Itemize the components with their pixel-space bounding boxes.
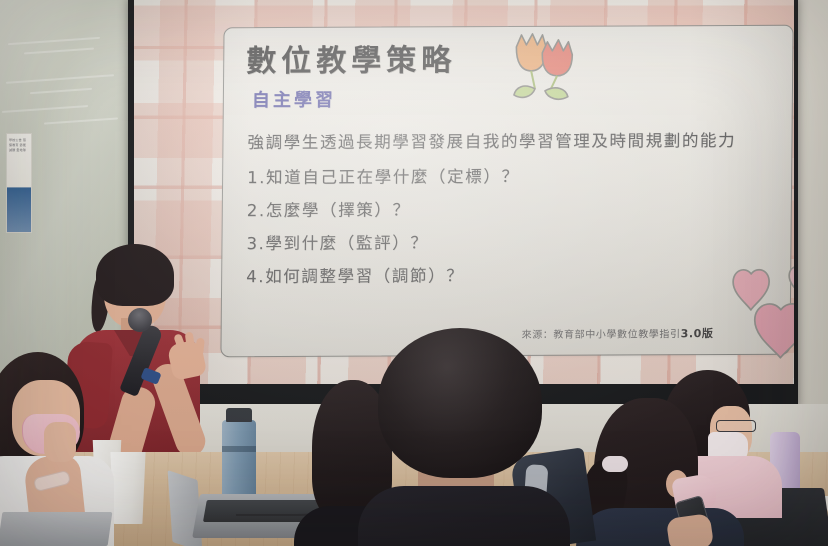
wall-poster: 學校公告 環保教育 節能減碳 愛地球 — [6, 133, 32, 233]
classroom-presentation-scene: 學校公告 環保教育 節能減碳 愛地球 數位教學策略 — [0, 0, 828, 546]
hair-tie — [602, 456, 628, 472]
center-head — [378, 328, 542, 478]
center-dark-shirt — [358, 486, 570, 546]
slide-source-version: 3.0版 — [681, 327, 714, 340]
right-front-navy-top — [576, 508, 744, 546]
wall-poster-text: 學校公告 環保教育 節能減碳 愛地球 — [9, 138, 29, 153]
slide-body: 強調學生透過長期學習發展自我的學習管理及時間規劃的能力 1.知道自己正在學什麼（… — [246, 124, 768, 293]
projection-screen-surface: 數位教學策略 自主學習 強調學生透過長期 — [134, 0, 794, 384]
bottle-cap — [226, 408, 252, 422]
presenter-hair — [96, 244, 174, 306]
audience-right-navy-phone — [580, 398, 750, 546]
tulip-flowers-icon — [502, 29, 589, 107]
pink-hearts-icon — [718, 254, 794, 365]
slide-subtitle: 自主學習 — [252, 86, 336, 112]
slide-question-4: 4.如何調整學習（調節）？ — [246, 258, 766, 293]
slide-title: 數位教學策略 — [246, 35, 456, 80]
slide-question-2: 2.怎麼學（擇策）？ — [247, 192, 767, 227]
audience-center-back-of-head — [352, 328, 582, 546]
left-hand — [44, 422, 76, 462]
slide-body-paragraph: 強調學生透過長期學習發展自我的學習管理及時間規劃的能力 — [247, 124, 767, 159]
right-front-hand — [666, 513, 714, 546]
laptop-left-edge — [0, 512, 112, 546]
slide-question-3: 3.學到什麼（監評）？ — [246, 225, 766, 260]
bottle-band — [222, 446, 256, 452]
slide-content-card: 數位教學策略 自主學習 強調學生透過長期 — [220, 25, 793, 357]
slide-question-1: 1.知道自己正在學什麼（定標）？ — [247, 159, 767, 194]
